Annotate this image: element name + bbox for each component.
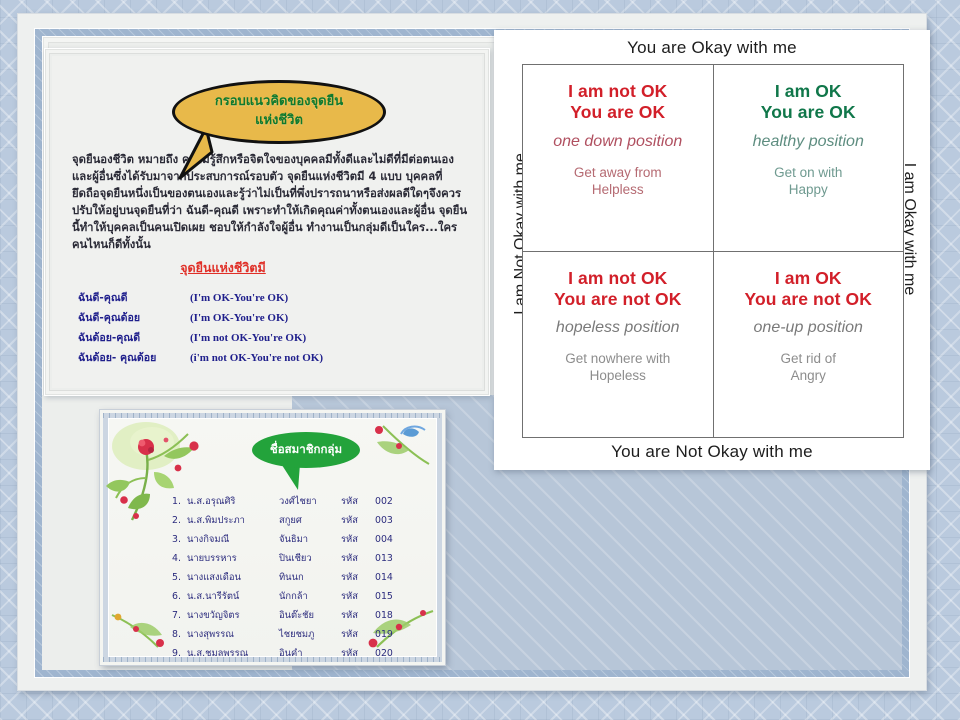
- quadrant-action-line1: Get on with: [724, 165, 894, 182]
- matrix-quadrant-bottom-left: I am not OK You are not OK hopeless posi…: [523, 252, 713, 438]
- member-last-name: วงศ์ไชยา: [279, 494, 341, 509]
- matrix-axis-top-label: You are Okay with me: [494, 38, 930, 58]
- quadrant-header-line2: You are OK: [533, 102, 703, 123]
- member-code: 015: [375, 591, 405, 602]
- list-item: 3. นางกิจมณี จันธิมา รหัส 004: [166, 532, 426, 547]
- member-code: 020: [375, 648, 405, 659]
- member-first-name: น.ส.พิมประภา: [187, 513, 279, 528]
- list-item: 1. น.ส.อรุณศิริ วงศ์ไชยา รหัส 002: [166, 494, 426, 509]
- member-last-name: ไชยชมภู: [279, 627, 341, 642]
- position-english: (i'm not OK-You're not OK): [190, 352, 323, 364]
- concept-speech-bubble: กรอบแนวคิดของจุดยืน แห่งชีวิต: [172, 80, 386, 144]
- list-item: 7. นางขวัญจิตร อินต๊ะชัย รหัส 018: [166, 608, 426, 623]
- member-code: 003: [375, 515, 405, 526]
- concept-bubble-line1: กรอบแนวคิดของจุดยืน: [215, 93, 343, 112]
- member-code-label: รหัส: [341, 513, 375, 528]
- quadrant-header: I am OK You are OK: [724, 81, 894, 124]
- life-position-list: ฉันดี-คุณดี (I'm OK-You're OK) ฉันดี-คุณ…: [78, 289, 448, 369]
- member-code: 019: [375, 629, 405, 640]
- member-last-name: ทินนก: [279, 570, 341, 585]
- quadrant-header-line1: I am not OK: [533, 81, 703, 102]
- position-thai: ฉันด้อย-คุณดี: [78, 329, 190, 346]
- list-item: 8. นางสุพรรณ ไชยชมภู รหัส 019: [166, 627, 426, 642]
- member-number: 2.: [166, 515, 187, 526]
- quadrant-header-line1: I am OK: [724, 81, 894, 102]
- member-code-label: รหัส: [341, 494, 375, 509]
- member-first-name: น.ส.อรุณศิริ: [187, 494, 279, 509]
- concept-bubble-line2: แห่งชีวิต: [255, 112, 303, 131]
- matrix-quadrant-bottom-right: I am OK You are not OK one-up position G…: [714, 252, 904, 438]
- member-number: 6.: [166, 591, 187, 602]
- matrix-axis-bottom-label: You are Not Okay with me: [494, 442, 930, 462]
- quadrant-action: Get on with Happy: [724, 165, 894, 199]
- member-code-label: รหัส: [341, 532, 375, 547]
- member-last-name: นักกล้า: [279, 589, 341, 604]
- quadrant-action-line1: Get away from: [533, 165, 703, 182]
- list-item: 6. น.ส.นารีรัตน์ นักกล้า รหัส 015: [166, 589, 426, 604]
- concept-heading: จุดยืนแห่งชีวิตมี: [0, 258, 446, 278]
- member-first-name: นายบรรหาร: [187, 551, 279, 566]
- quadrant-subtitle: healthy position: [724, 132, 894, 151]
- quadrant-action: Get rid of Angry: [724, 351, 894, 385]
- member-last-name: อินต๊ะชัย: [279, 608, 341, 623]
- quadrant-header-line2: You are not OK: [724, 289, 894, 310]
- quadrant-header: I am not OK You are not OK: [533, 268, 703, 311]
- list-item: ฉันด้อย-คุณดี (I'm not OK-You're OK): [78, 329, 448, 346]
- member-code-label: รหัส: [341, 646, 375, 661]
- member-number: 8.: [166, 629, 187, 640]
- member-code-label: รหัส: [341, 627, 375, 642]
- list-item: ฉันดี-คุณดี (I'm OK-You're OK): [78, 289, 448, 306]
- matrix-quadrant-top-left: I am not OK You are OK one down position…: [523, 65, 713, 251]
- position-english: (I'm not OK-You're OK): [190, 332, 306, 344]
- position-english: (I'm OK-You're OK): [190, 312, 288, 324]
- members-list: 1. น.ส.อรุณศิริ วงศ์ไชยา รหัส 002 2. น.ส…: [166, 494, 426, 665]
- member-number: 7.: [166, 610, 187, 621]
- member-code: 014: [375, 572, 405, 583]
- member-last-name: ปินเชียว: [279, 551, 341, 566]
- list-item: ฉันดี-คุณด้อย (I'm OK-You're OK): [78, 309, 448, 326]
- quadrant-action-line2: Angry: [724, 368, 894, 385]
- member-code: 004: [375, 534, 405, 545]
- members-card: ชื่อสมาชิกกลุ่ม 1. น.ส.อรุณศิริ วงศ์ไชยา…: [100, 410, 445, 665]
- list-item: ฉันด้อย- คุณด้อย (i'm not OK-You're not …: [78, 349, 448, 366]
- position-thai: ฉันดี-คุณด้อย: [78, 309, 190, 326]
- members-speech-bubble: ชื่อสมาชิกกลุ่ม: [252, 432, 360, 468]
- member-last-name: สกูยศ: [279, 513, 341, 528]
- member-first-name: น.ส.ชมลพรรณ: [187, 646, 279, 661]
- quadrant-subtitle: one-up position: [724, 318, 894, 337]
- member-code: 018: [375, 610, 405, 621]
- member-last-name: จันธิมา: [279, 532, 341, 547]
- quadrant-action-line2: Helpless: [533, 182, 703, 199]
- member-last-name: อินคำ: [279, 646, 341, 661]
- member-first-name: นางขวัญจิตร: [187, 608, 279, 623]
- position-thai: ฉันดี-คุณดี: [78, 289, 190, 306]
- member-first-name: นางแสงเดือน: [187, 570, 279, 585]
- list-item: 9. น.ส.ชมลพรรณ อินคำ รหัส 020: [166, 646, 426, 661]
- member-number: 9.: [166, 648, 187, 659]
- quadrant-header-line1: I am OK: [724, 268, 894, 289]
- quadrant-subtitle: hopeless position: [533, 318, 703, 337]
- quadrant-action: Get nowhere with Hopeless: [533, 351, 703, 385]
- matrix-grid: I am not OK You are OK one down position…: [522, 64, 904, 438]
- list-item: 4. นายบรรหาร ปินเชียว รหัส 013: [166, 551, 426, 566]
- member-code: 013: [375, 553, 405, 564]
- member-code: 002: [375, 496, 405, 507]
- quadrant-action-line1: Get rid of: [724, 351, 894, 368]
- member-code-label: รหัส: [341, 589, 375, 604]
- quadrant-action: Get away from Helpless: [533, 165, 703, 199]
- members-bubble-label: ชื่อสมาชิกกลุ่ม: [270, 441, 342, 459]
- matrix-quadrant-top-right: I am OK You are OK healthy position Get …: [714, 65, 904, 251]
- member-code-label: รหัส: [341, 551, 375, 566]
- member-first-name: นางกิจมณี: [187, 532, 279, 547]
- position-thai: ฉันด้อย- คุณด้อย: [78, 349, 190, 366]
- list-item: 5. นางแสงเดือน ทินนก รหัส 014: [166, 570, 426, 585]
- quadrant-header: I am not OK You are OK: [533, 81, 703, 124]
- ok-corral-matrix: You are Okay with me You are Not Okay wi…: [494, 30, 930, 470]
- quadrant-subtitle: one down position: [533, 132, 703, 151]
- member-code-label: รหัส: [341, 608, 375, 623]
- member-number: 4.: [166, 553, 187, 564]
- quadrant-action-line2: Happy: [724, 182, 894, 199]
- position-english: (I'm OK-You're OK): [190, 292, 288, 304]
- concept-body-paragraph: จุดยืนองชีวิต หมายถึง ความรู้สึกหรือจิตใ…: [72, 152, 468, 254]
- member-first-name: น.ส.นารีรัตน์: [187, 589, 279, 604]
- quadrant-header-line1: I am not OK: [533, 268, 703, 289]
- member-number: 3.: [166, 534, 187, 545]
- member-code-label: รหัส: [341, 570, 375, 585]
- member-number: 1.: [166, 496, 187, 507]
- quadrant-header: I am OK You are not OK: [724, 268, 894, 311]
- quadrant-header-line2: You are OK: [724, 102, 894, 123]
- quadrant-header-line2: You are not OK: [533, 289, 703, 310]
- quadrant-action-line2: Hopeless: [533, 368, 703, 385]
- quadrant-action-line1: Get nowhere with: [533, 351, 703, 368]
- member-first-name: นางสุพรรณ: [187, 627, 279, 642]
- list-item: 2. น.ส.พิมประภา สกูยศ รหัส 003: [166, 513, 426, 528]
- member-number: 5.: [166, 572, 187, 583]
